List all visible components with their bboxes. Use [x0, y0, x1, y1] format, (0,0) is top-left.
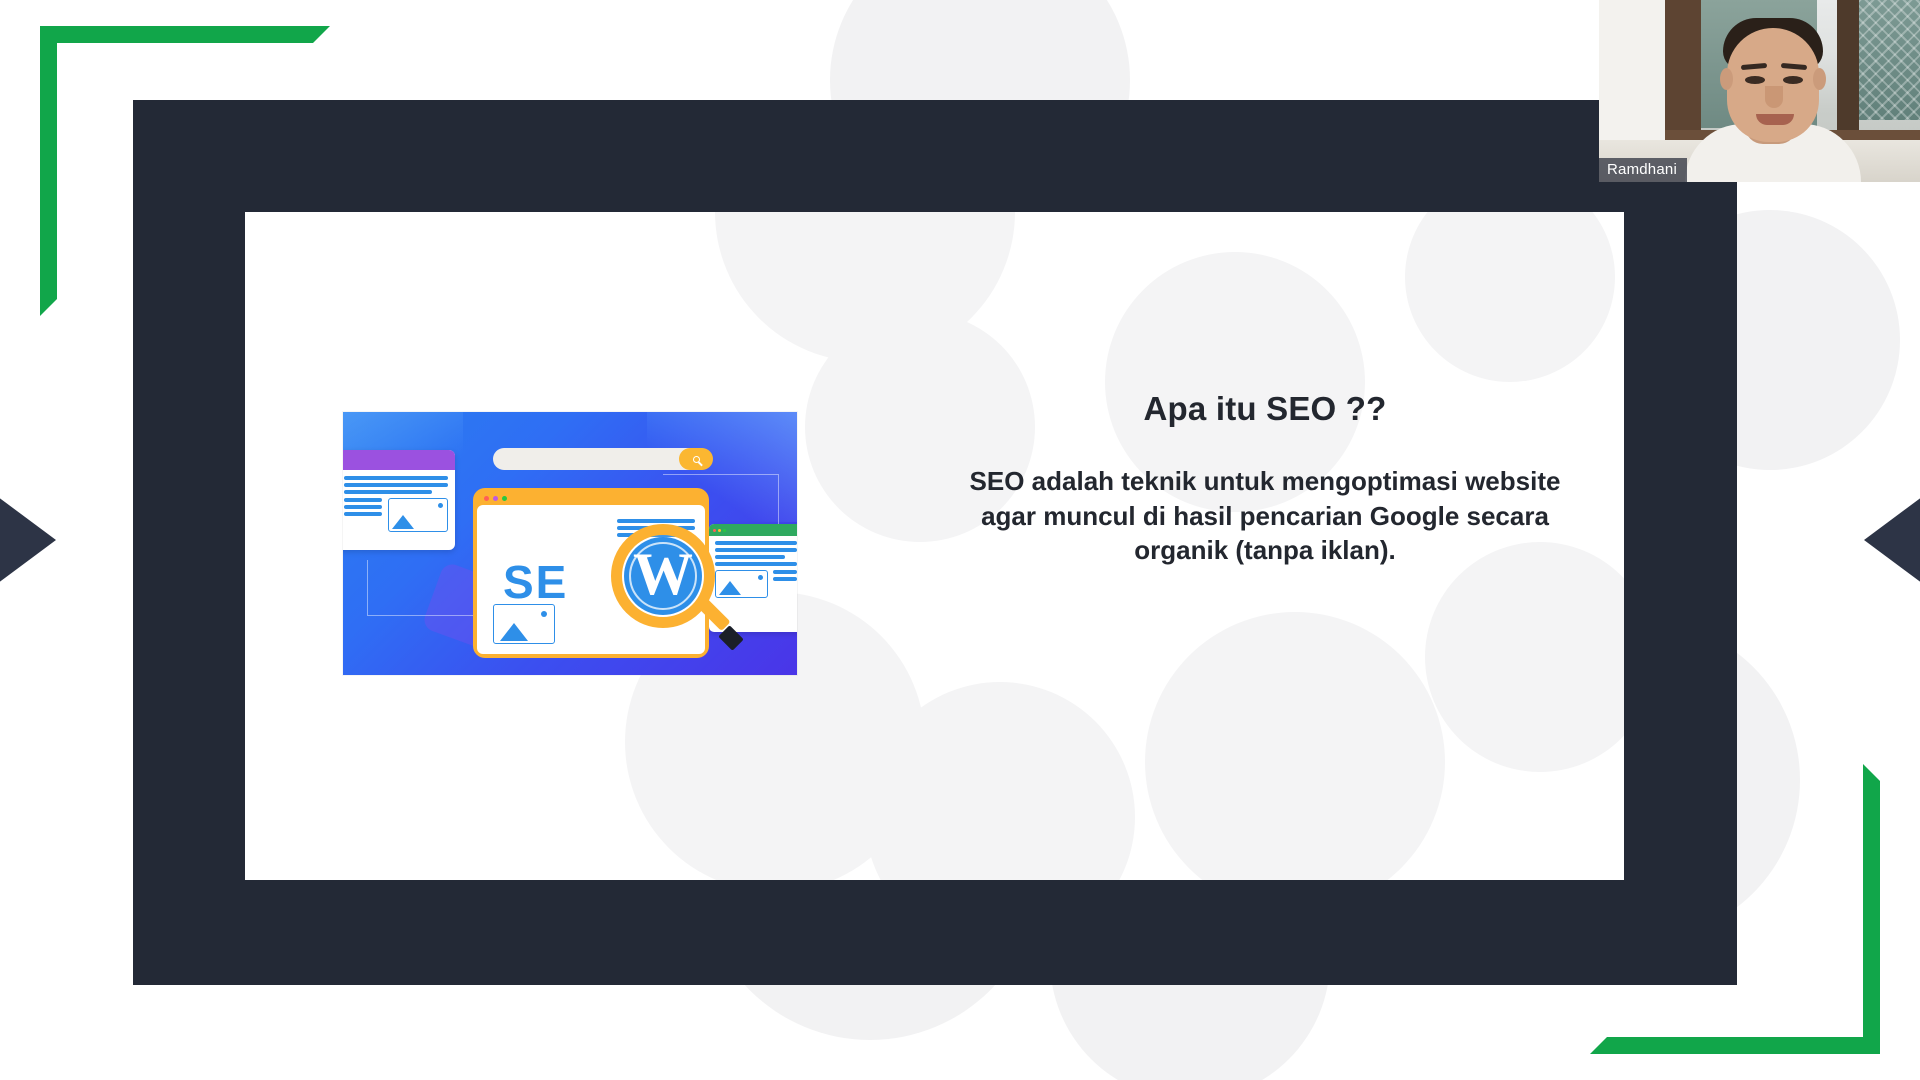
webcam-person-eye [1745, 76, 1765, 84]
webcam-background-post [1837, 0, 1859, 150]
webcam-overlay[interactable]: Ramdhani [1599, 0, 1920, 182]
card-titlebar [343, 450, 455, 470]
text-line [715, 541, 797, 545]
text-line [773, 577, 797, 581]
chevron-right-icon [0, 485, 56, 595]
webcam-background-mesh [1857, 0, 1920, 120]
text-line [715, 562, 797, 566]
text-line [344, 490, 432, 494]
bracket-vertical-bar [40, 26, 57, 316]
magnifier-glyph [693, 456, 700, 463]
search-icon [679, 448, 713, 470]
text-line [344, 498, 382, 502]
card-body [709, 536, 797, 603]
chevron-left-icon [1864, 485, 1920, 595]
image-placeholder-icon [388, 498, 448, 532]
webcam-person-ear [1720, 68, 1733, 90]
webcam-video-feed [1599, 0, 1920, 182]
window-dot-yellow-icon [718, 529, 721, 532]
browser-titlebar [477, 492, 705, 505]
slide-title: Apa itu SEO ?? [945, 390, 1585, 428]
text-line [344, 505, 382, 509]
card-column [773, 570, 797, 598]
illustration-search-bar [493, 448, 711, 470]
webcam-background-frame [1665, 0, 1701, 140]
wordpress-logo-icon: W [624, 537, 702, 615]
text-line [617, 519, 695, 523]
card-body [343, 470, 455, 538]
text-line [773, 570, 797, 574]
text-line [715, 548, 797, 552]
window-dot-green-icon [723, 529, 726, 532]
webcam-person-ear [1813, 68, 1826, 90]
wordpress-logo-ring [629, 542, 697, 610]
window-dot-red-icon [484, 496, 489, 501]
slide-content: SE W [245, 212, 1624, 880]
text-line [344, 476, 448, 480]
slide-text-column: Apa itu SEO ?? SEO adalah teknik untuk m… [945, 390, 1585, 568]
slide-frame: SE W [133, 100, 1737, 985]
text-line [344, 483, 448, 487]
card-row [715, 570, 797, 598]
webcam-participant-name: Ramdhani [1599, 158, 1687, 182]
window-dot-green-icon [502, 496, 507, 501]
slide-canvas: SE W [245, 212, 1624, 880]
image-placeholder-icon [715, 570, 768, 598]
bracket-horizontal-bar [40, 26, 330, 43]
seo-illustration: SE W [343, 412, 797, 675]
webcam-person-eye [1783, 76, 1803, 84]
card-titlebar [709, 524, 797, 536]
window-dot-purple-icon [493, 496, 498, 501]
magnifier-icon: W [611, 524, 715, 628]
card-column [344, 498, 382, 532]
webcam-person-mouth [1756, 114, 1794, 125]
illustration-seo-text: SE [503, 559, 568, 605]
bracket-horizontal-bar [1590, 1037, 1880, 1054]
card-row [344, 498, 448, 532]
illustration-card-purple [343, 450, 455, 550]
presentation-stage: SE W [0, 0, 1920, 1080]
image-placeholder-icon [493, 604, 555, 644]
text-line [715, 555, 785, 559]
text-line [344, 512, 382, 516]
slide-body-text: SEO adalah teknik untuk mengoptimasi web… [945, 464, 1585, 568]
connector-line [367, 560, 487, 616]
webcam-person-nose [1765, 86, 1783, 108]
bracket-vertical-bar [1863, 764, 1880, 1054]
